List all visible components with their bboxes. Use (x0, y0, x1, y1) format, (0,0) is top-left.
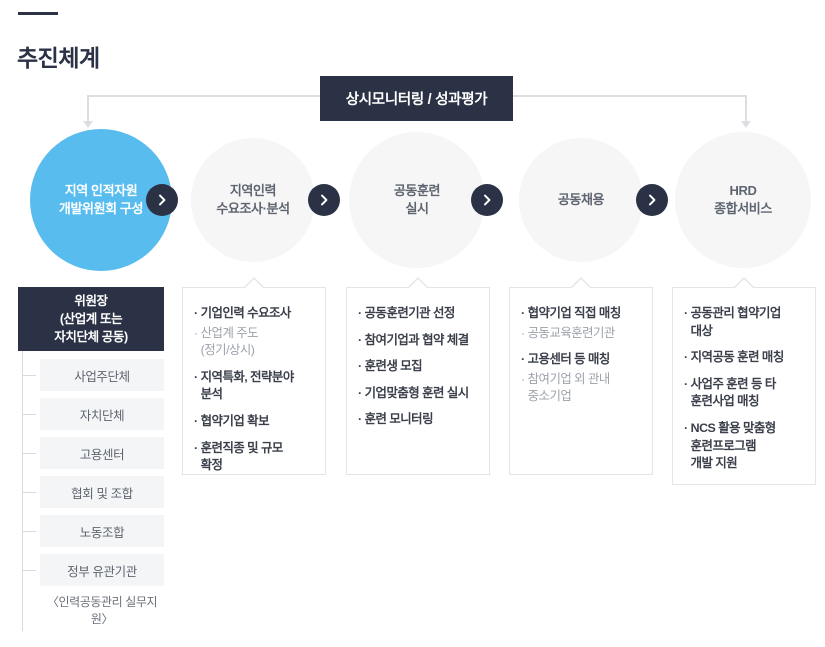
committee-caption: 〈인력공동관리 실무지원〉 (18, 593, 164, 627)
stage-circle-label: HRD종합서비스 (706, 182, 780, 219)
committee-panel: 위원장(산업계 또는자치단체 공동) 사업주단체자치단체고용센터협회 및 조합노… (18, 287, 164, 627)
arrow-head-right-icon (741, 121, 751, 128)
committee-row-1[interactable]: 사업주단체 (40, 359, 164, 391)
card-pointer-notch-inner (733, 279, 755, 290)
detail-list-item-label: 협약기업 직접 매칭 (528, 305, 642, 323)
committee-row-label: 고용센터 (80, 444, 124, 463)
chevron-right-icon (646, 194, 658, 206)
chevron-right-icon (318, 194, 330, 206)
card-pointer-notch-inner (407, 279, 429, 290)
detail-list-item: ·협약기업 확보 (194, 413, 315, 431)
committee-row-label: 노동조합 (80, 522, 124, 541)
detail-list-item-label: 지역특화, 전략분야분석 (201, 369, 315, 404)
detail-list-item: ·산업계 주도(정기/상시) (194, 325, 315, 360)
committee-row-2[interactable]: 자치단체 (40, 398, 164, 430)
connector-line-right-vertical (745, 95, 747, 122)
monitoring-banner: 상시모니터링 / 성과평가 (320, 76, 513, 121)
detail-list-item-label: 지역공동 훈련 매칭 (691, 349, 805, 367)
committee-row-label: 자치단체 (80, 405, 124, 424)
stage-advance-button-2[interactable] (308, 184, 340, 216)
committee-header-label: 위원장(산업계 또는자치단체 공동) (54, 292, 127, 346)
detail-list-item: ·기업인력 수요조사 (194, 305, 315, 323)
detail-list-item-label: 훈련생 모집 (365, 358, 479, 376)
committee-row-6[interactable]: 정부 유관기관 (40, 554, 164, 586)
detail-card-1: ·기업인력 수요조사·산업계 주도(정기/상시)·지역특화, 전략분야분석·협약… (182, 287, 326, 475)
detail-list-item-label: 기업맞춤형 훈련 실시 (365, 385, 479, 403)
monitoring-banner-label: 상시모니터링 / 성과평가 (346, 88, 488, 109)
detail-list-item-label: NCS 활용 맞춤형훈련프로그램개발 지원 (691, 420, 805, 473)
detail-list-item: ·참여기업과 협약 체결 (358, 332, 479, 350)
detail-list-item: ·공동훈련기관 선정 (358, 305, 479, 323)
detail-list-item: ·훈련직종 및 규모확정 (194, 440, 315, 475)
detail-list-item: ·지역공동 훈련 매칭 (684, 349, 805, 367)
stage-circle-label: 공동훈련실시 (386, 182, 448, 219)
detail-list-item: ·훈련 모니터링 (358, 411, 479, 429)
bullet-dot-icon: · (358, 385, 362, 403)
stage-circle-label: 지역 인적자원개발위원회 구성 (51, 182, 151, 219)
detail-card-3: ·협약기업 직접 매칭·공동교육훈련기관·고용센터 등 매칭·참여기업 외 관내… (509, 287, 653, 475)
detail-list-item-label: 사업주 훈련 등 타훈련사업 매칭 (691, 376, 805, 411)
detail-list-item: ·기업맞춤형 훈련 실시 (358, 385, 479, 403)
card-pointer-notch-inner (570, 279, 592, 290)
committee-row-4[interactable]: 협회 및 조합 (40, 476, 164, 508)
chevron-right-icon (156, 194, 168, 206)
arrow-head-left-icon (83, 121, 93, 128)
committee-row-5[interactable]: 노동조합 (40, 515, 164, 547)
bullet-dot-icon: · (194, 369, 198, 404)
detail-list-item-label: 참여기업 외 관내중소기업 (528, 371, 642, 406)
bullet-dot-icon: · (684, 305, 688, 340)
detail-list-item: ·공동교육훈련기관 (521, 325, 642, 343)
detail-list-item: ·사업주 훈련 등 타훈련사업 매칭 (684, 376, 805, 411)
stage-circle-label: 공동채용 (550, 191, 612, 209)
bullet-dot-icon: · (358, 305, 362, 323)
bullet-dot-icon: · (194, 413, 198, 431)
bullet-dot-icon: · (194, 325, 198, 360)
detail-card-4: ·공동관리 협약기업대상·지역공동 훈련 매칭·사업주 훈련 등 타훈련사업 매… (672, 287, 816, 485)
bullet-dot-icon: · (194, 305, 198, 323)
detail-card-2: ·공동훈련기관 선정·참여기업과 협약 체결·훈련생 모집·기업맞춤형 훈련 실… (346, 287, 490, 475)
card-pointer-notch-inner (243, 279, 265, 290)
stage-circle-3[interactable]: 공동훈련실시 (349, 132, 485, 268)
detail-list-item: ·지역특화, 전략분야분석 (194, 369, 315, 404)
detail-list-item-label: 공동훈련기관 선정 (365, 305, 479, 323)
stage-circle-label: 지역인력수요조사·분석 (208, 182, 297, 219)
committee-row-label: 사업주단체 (74, 366, 130, 385)
detail-list-item-label: 기업인력 수요조사 (201, 305, 315, 323)
detail-list-item-label: 공동관리 협약기업대상 (691, 305, 805, 340)
bullet-dot-icon: · (194, 440, 198, 475)
chevron-right-icon (481, 194, 493, 206)
connector-line-right-horizontal (512, 95, 747, 97)
bullet-dot-icon: · (521, 371, 525, 406)
detail-list-item-label: 산업계 주도(정기/상시) (201, 325, 315, 360)
connector-line-left-vertical (87, 95, 89, 122)
committee-row-label: 정부 유관기관 (67, 561, 137, 580)
stage-advance-button-4[interactable] (636, 184, 668, 216)
detail-list-item-label: 훈련 모니터링 (365, 411, 479, 429)
bullet-dot-icon: · (684, 420, 688, 473)
detail-list-item-label: 고용센터 등 매칭 (528, 351, 642, 369)
connector-line-left-horizontal (87, 95, 322, 97)
committee-member-list: 사업주단체자치단체고용센터협회 및 조합노동조합정부 유관기관 (18, 359, 164, 586)
stage-circle-5[interactable]: HRD종합서비스 (675, 132, 811, 268)
bullet-dot-icon: · (521, 305, 525, 323)
stage-circle-row: 지역 인적자원개발위원회 구성지역인력수요조사·분석공동훈련실시공동채용HRD종… (0, 0, 825, 290)
stage-circle-4[interactable]: 공동채용 (519, 138, 643, 262)
detail-list-item: ·고용센터 등 매칭 (521, 351, 642, 369)
detail-list-item: ·공동관리 협약기업대상 (684, 305, 805, 340)
bullet-dot-icon: · (358, 411, 362, 429)
stage-advance-button-3[interactable] (471, 184, 503, 216)
detail-list-item-label: 공동교육훈련기관 (528, 325, 642, 343)
bullet-dot-icon: · (684, 349, 688, 367)
committee-header: 위원장(산업계 또는자치단체 공동) (18, 287, 164, 351)
detail-list-item-label: 참여기업과 협약 체결 (365, 332, 479, 350)
bullet-dot-icon: · (521, 351, 525, 369)
bullet-dot-icon: · (521, 325, 525, 343)
detail-list-item-label: 협약기업 확보 (201, 413, 315, 431)
bullet-dot-icon: · (358, 358, 362, 376)
detail-list-item: ·훈련생 모집 (358, 358, 479, 376)
bullet-dot-icon: · (684, 376, 688, 411)
committee-connector-spine (22, 351, 23, 631)
detail-list-item: ·협약기업 직접 매칭 (521, 305, 642, 323)
committee-row-label: 협회 및 조합 (71, 483, 133, 502)
detail-list-item: ·참여기업 외 관내중소기업 (521, 371, 642, 406)
stage-advance-button-1[interactable] (146, 184, 178, 216)
stage-circle-2[interactable]: 지역인력수요조사·분석 (191, 138, 315, 262)
committee-row-3[interactable]: 고용센터 (40, 437, 164, 469)
detail-list-item-label: 훈련직종 및 규모확정 (201, 440, 315, 475)
detail-list-item: ·NCS 활용 맞춤형훈련프로그램개발 지원 (684, 420, 805, 473)
bullet-dot-icon: · (358, 332, 362, 350)
